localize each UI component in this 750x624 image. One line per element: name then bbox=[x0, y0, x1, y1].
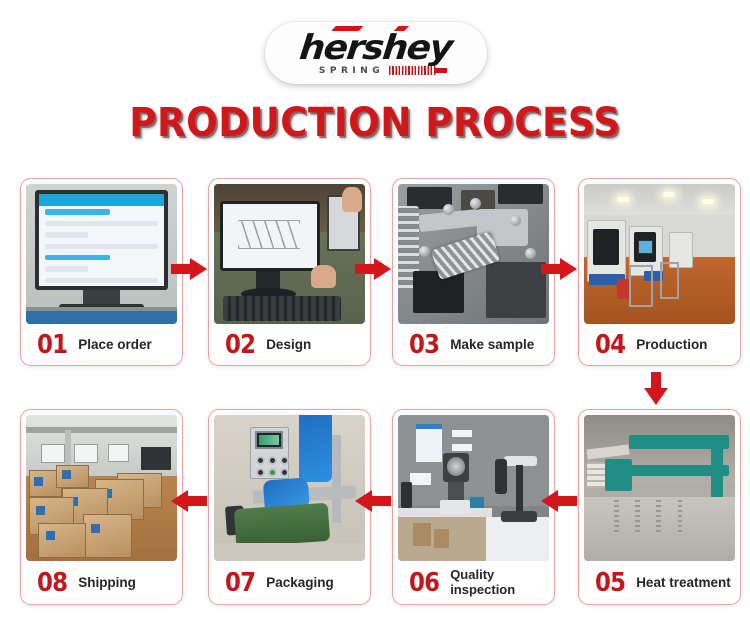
step-number: 03 bbox=[409, 332, 439, 358]
step-number: 08 bbox=[37, 570, 67, 596]
step-photo-design bbox=[214, 184, 365, 324]
step-photo-production bbox=[584, 184, 735, 324]
process-step-card-06[interactable]: 06 Quality inspection bbox=[392, 409, 555, 605]
step-caption: 02 Design bbox=[214, 324, 365, 365]
step-photo-make-sample bbox=[398, 184, 549, 324]
process-step-card-01[interactable]: 01 Place order bbox=[20, 178, 183, 366]
step-label: Packaging bbox=[266, 575, 334, 591]
arrow-right-icon-03-to-04 bbox=[541, 258, 577, 280]
process-step-card-08[interactable]: 08 Shipping bbox=[20, 409, 183, 605]
step-label: Design bbox=[266, 337, 311, 353]
arrow-right-icon-01-to-02 bbox=[171, 258, 207, 280]
step-label: Place order bbox=[78, 337, 152, 353]
step-number: 02 bbox=[225, 332, 255, 358]
arrow-right-icon-02-to-03 bbox=[355, 258, 391, 280]
step-photo-shipping bbox=[26, 415, 177, 561]
step-number: 05 bbox=[595, 570, 625, 596]
step-caption: 01 Place order bbox=[26, 324, 177, 365]
step-label: Heat treatment bbox=[636, 575, 731, 591]
process-step-card-04[interactable]: 04 Production bbox=[578, 178, 741, 366]
step-label: Quality inspection bbox=[450, 568, 547, 598]
step-number: 06 bbox=[409, 570, 439, 596]
arrow-down-icon-04-to-05 bbox=[644, 372, 668, 404]
step-caption: 06 Quality inspection bbox=[398, 561, 549, 604]
arrow-left-icon-05-to-06 bbox=[541, 490, 577, 512]
step-caption: 08 Shipping bbox=[26, 561, 177, 604]
step-caption: 04 Production bbox=[584, 324, 735, 365]
step-label: Production bbox=[636, 337, 707, 353]
process-step-card-02[interactable]: 02 Design bbox=[208, 178, 371, 366]
step-photo-heat-treatment bbox=[584, 415, 735, 561]
process-flow-board: 01 Place order 02 Design bbox=[0, 0, 750, 624]
step-number: 07 bbox=[225, 570, 255, 596]
step-caption: 05 Heat treatment bbox=[584, 561, 735, 604]
arrow-left-icon-06-to-07 bbox=[355, 490, 391, 512]
step-number: 01 bbox=[37, 332, 67, 358]
step-caption: 03 Make sample bbox=[398, 324, 549, 365]
step-label: Shipping bbox=[78, 575, 136, 591]
process-step-card-05[interactable]: 05 Heat treatment bbox=[578, 409, 741, 605]
step-photo-place-order bbox=[26, 184, 177, 324]
step-caption: 07 Packaging bbox=[214, 561, 365, 604]
step-label: Make sample bbox=[450, 337, 534, 353]
step-number: 04 bbox=[595, 332, 625, 358]
arrow-left-icon-07-to-08 bbox=[171, 490, 207, 512]
step-photo-packaging bbox=[214, 415, 365, 561]
process-step-card-03[interactable]: 03 Make sample bbox=[392, 178, 555, 366]
process-step-card-07[interactable]: 07 Packaging bbox=[208, 409, 371, 605]
step-photo-quality-inspection bbox=[398, 415, 549, 561]
